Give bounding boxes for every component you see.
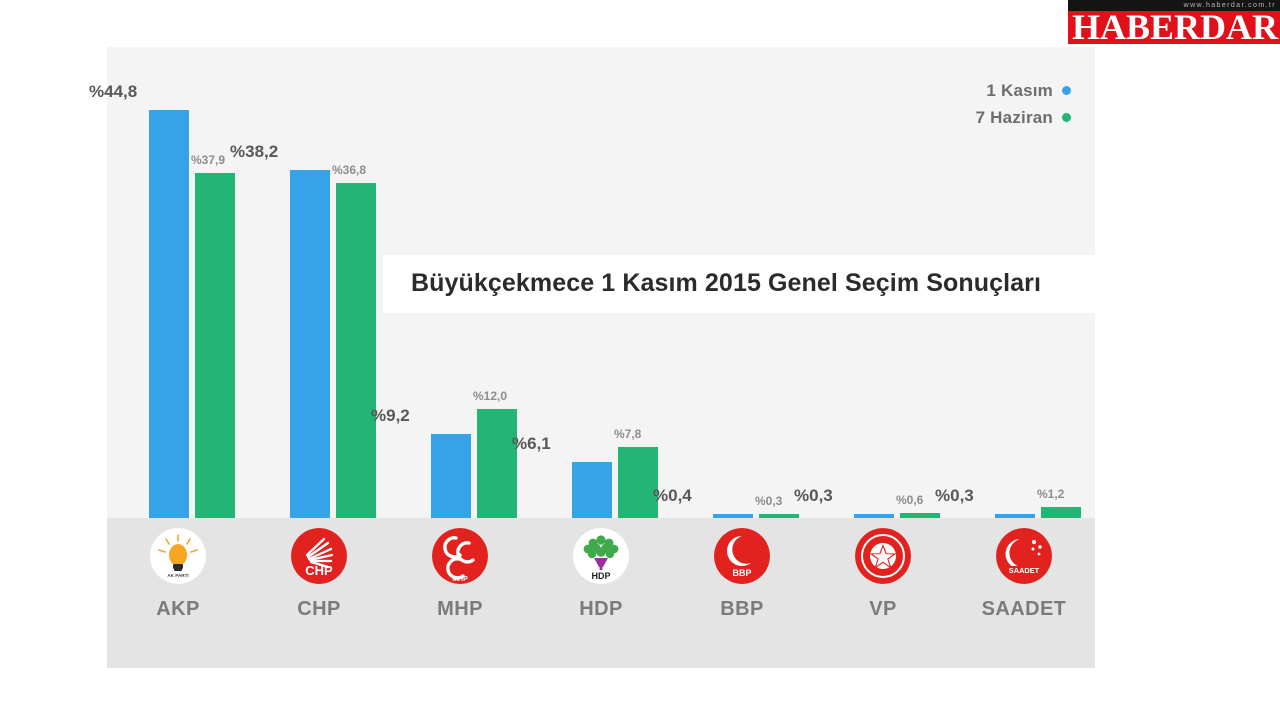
site-watermark: www.haberdar.com.tr HABERDAR <box>1068 0 1280 48</box>
legend-color-dot <box>1062 86 1071 95</box>
bar-value-hdp-haziran: %7,8 <box>614 427 641 441</box>
bar-mhp-haziran[interactable] <box>477 409 517 518</box>
bar-value-akp-kasim: %44,8 <box>89 82 137 102</box>
chart-title: Büyükçekmece 1 Kasım 2015 Genel Seçim So… <box>411 269 1041 298</box>
category-label: SAADET <box>969 598 1079 621</box>
hdp-tree-logo: HDP <box>573 528 629 584</box>
bar-group-chp: %38,2%36,8 <box>264 47 374 518</box>
vp-star-logo <box>855 528 911 584</box>
svg-text:SAADET: SAADET <box>1009 566 1040 575</box>
bar-value-saadet-haziran: %1,2 <box>1037 487 1064 501</box>
svg-text:AK PARTİ: AK PARTİ <box>167 572 188 578</box>
legend-item-7-haziran[interactable]: 7 Haziran <box>976 104 1071 131</box>
category-label: AKP <box>123 598 233 621</box>
chart-title-band: Büyükçekmece 1 Kasım 2015 Genel Seçim So… <box>383 255 1183 313</box>
category-label: VP <box>828 598 938 621</box>
bar-value-vp-kasim: %0,3 <box>794 486 833 506</box>
bar-akp-haziran[interactable] <box>195 173 235 518</box>
bar-mhp-kasim[interactable] <box>431 434 471 518</box>
bar-value-vp-haziran: %0,6 <box>896 493 923 507</box>
bar-saadet-haziran[interactable] <box>1041 507 1081 518</box>
bar-value-bbp-kasim: %0,4 <box>653 486 692 506</box>
bar-group-akp: %44,8%37,9 <box>123 47 233 518</box>
bar-hdp-kasim[interactable] <box>572 462 612 518</box>
category-mhp[interactable]: MHP MHP <box>405 518 515 668</box>
bbp-crescent-logo: ا BBP <box>714 528 770 584</box>
category-axis: AK PARTİ AKP CHP CHP MHP MHP <box>107 518 1095 668</box>
category-label: CHP <box>264 598 374 621</box>
category-label: BBP <box>687 598 797 621</box>
legend-item-1-kasım[interactable]: 1 Kasım <box>976 77 1071 104</box>
legend-label: 7 Haziran <box>976 108 1053 128</box>
election-results-chart: %44,8%37,9%38,2%36,8%9,2%12,0%6,1%7,8%0,… <box>107 47 1095 668</box>
akp-lightbulb-logo: AK PARTİ <box>150 528 206 584</box>
category-label: HDP <box>546 598 656 621</box>
chart-legend: 1 Kasım7 Haziran <box>976 77 1071 131</box>
bar-value-mhp-kasim: %9,2 <box>371 406 410 426</box>
bar-chp-kasim[interactable] <box>290 170 330 518</box>
category-hdp[interactable]: HDP HDP <box>546 518 656 668</box>
saadet-crescent-stars-logo: SAADET <box>996 528 1052 584</box>
category-saadet[interactable]: SAADET SAADET <box>969 518 1079 668</box>
category-bbp[interactable]: ا BBP BBP <box>687 518 797 668</box>
watermark-brand: HABERDAR <box>1072 9 1280 45</box>
bar-value-chp-kasim: %38,2 <box>230 142 278 162</box>
bar-value-bbp-haziran: %0,3 <box>755 494 782 508</box>
legend-color-dot <box>1062 113 1071 122</box>
svg-text:BBP: BBP <box>732 568 751 578</box>
bar-akp-kasim[interactable] <box>149 110 189 518</box>
category-akp[interactable]: AK PARTİ AKP <box>123 518 233 668</box>
bar-value-mhp-haziran: %12,0 <box>473 389 507 403</box>
chp-six-arrows-logo: CHP <box>291 528 347 584</box>
svg-text:ا: ا <box>740 543 743 555</box>
svg-text:MHP: MHP <box>452 576 468 583</box>
bar-chp-haziran[interactable] <box>336 183 376 518</box>
category-chp[interactable]: CHP CHP <box>264 518 374 668</box>
mhp-three-crescent-logo: MHP <box>432 528 488 584</box>
bar-value-saadet-kasim: %0,3 <box>935 486 974 506</box>
svg-text:CHP: CHP <box>305 563 333 578</box>
legend-label: 1 Kasım <box>986 81 1053 101</box>
svg-text:HDP: HDP <box>591 571 610 581</box>
category-vp[interactable]: VP <box>828 518 938 668</box>
bar-value-chp-haziran: %36,8 <box>332 163 366 177</box>
category-label: MHP <box>405 598 515 621</box>
bar-value-hdp-kasim: %6,1 <box>512 434 551 454</box>
bar-hdp-haziran[interactable] <box>618 447 658 518</box>
bar-value-akp-haziran: %37,9 <box>191 153 225 167</box>
